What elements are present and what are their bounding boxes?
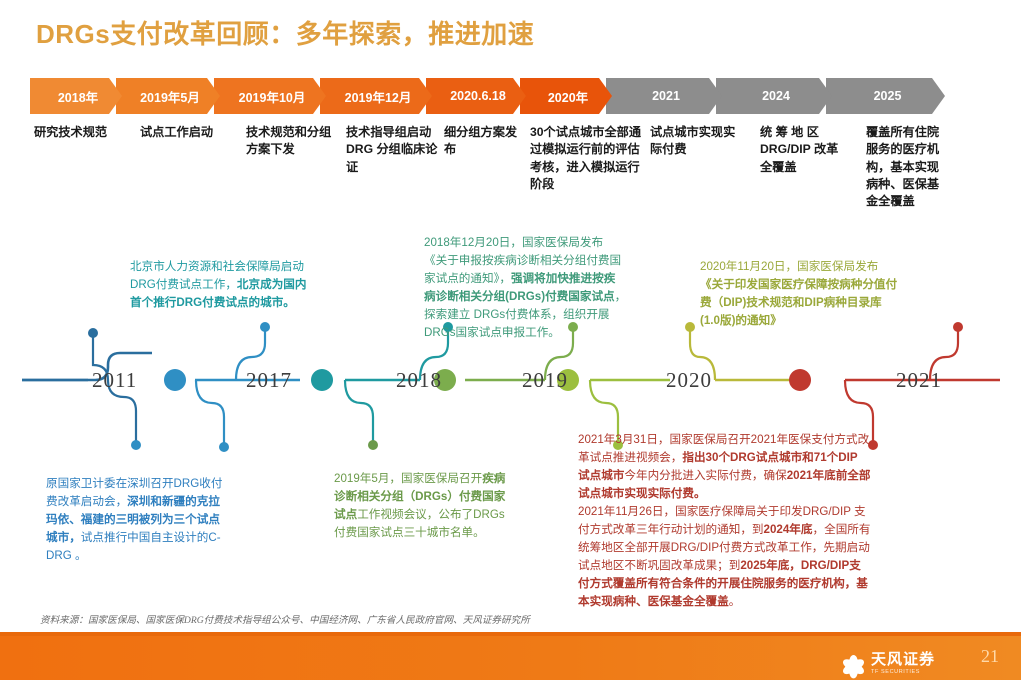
year-label-2020: 2020 [666, 368, 712, 393]
brand-subtitle: TF SECURITIES [871, 669, 935, 675]
phase-chevron-bar: 2018年2019年5月2019年10月2019年12月2020.6.18202… [30, 78, 993, 114]
stage-caption-4: 技术指导组启动 DRG 分组临床论证 [346, 124, 438, 176]
note-line: 费（DIP)技术规范和DIP病种目录库 [700, 294, 932, 312]
note-line: 《关于印发国家医疗保障按病种分值付 [700, 276, 932, 294]
note-shenzhen-2011: 原国家卫计委在深圳召开DRG收付费改革启动会，深圳和新疆的克拉玛依、福建的三明被… [46, 475, 246, 565]
note-line: 2018年12月20日，国家医保局发布 [424, 234, 644, 252]
note-line: 试点城市今年内分批进入实际付费，确保2021年底前全部 [578, 467, 898, 485]
chevron-label: 2019年5月 [136, 87, 200, 106]
chevron-phase-8[interactable]: 2024 [716, 78, 832, 114]
chevron-label: 2025 [870, 89, 902, 103]
note-line: 2021年11月26日，国家医疗保障局关于印发DRG/DIP 支 [578, 503, 898, 521]
note-line: 《关于申报按疾病诊断相关分组付费国 [424, 252, 644, 270]
note-line: (1.0版)的通知》 [700, 312, 932, 330]
note-beijing-2011: 北京市人力资源和社会保障局启动DRG付费试点工作，北京成为国内首个推行DRG付费… [130, 258, 340, 312]
stage-caption-3: 技术规范和分组方案下发 [246, 124, 340, 159]
note-line: 试点工作视频会议，公布了DRGs [334, 506, 549, 524]
note-line: 2019年5月，国家医保局召开疾病 [334, 470, 549, 488]
chevron-label: 2020年 [544, 87, 588, 106]
chevron-phase-6[interactable]: 2020年 [520, 78, 612, 114]
page-title: DRGs支付改革回顾：多年探索，推进加速 [36, 14, 534, 51]
year-label-2021: 2021 [896, 368, 942, 393]
note-2021-action-plan: 2021年3月31日，国家医保局召开2021年医保支付方式改革试点推进视频会，指… [578, 431, 898, 611]
note-line: 试点城市实现实际付费。 [578, 485, 898, 503]
note-line: 首个推行DRG付费试点的城市。 [130, 294, 340, 312]
note-line: 城市，试点推行中国自主设计的C- [46, 529, 246, 547]
note-line: 统筹地区全部开展DRG/DIP付费方式改革工作，先期启动 [578, 539, 898, 557]
chevron-phase-7[interactable]: 2021 [606, 78, 722, 114]
note-line: DRG 。 [46, 547, 246, 565]
note-line: DRGs国家试点申报工作。 [424, 324, 644, 342]
note-line: 试点地区不断巩固改革成果；到2025年底，DRG/DIP支 [578, 557, 898, 575]
note-2018-12-20: 2018年12月20日，国家医保局发布《关于申报按疾病诊断相关分组付费国家试点的… [424, 234, 644, 342]
note-2020-11-20: 2020年11月20日，国家医保局发布《关于印发国家医疗保障按病种分值付费（DI… [700, 258, 932, 330]
chevron-phase-3[interactable]: 2019年10月 [214, 78, 326, 114]
chevron-phase-5[interactable]: 2020.6.18 [426, 78, 526, 114]
stage-caption-8: 统 筹 地 区 DRG/DIP 改革全覆盖 [760, 124, 844, 176]
stage-caption-9: 覆盖所有住院服务的医疗机构，基本实现病种、医保基金全覆盖 [866, 124, 948, 211]
note-line: 原国家卫计委在深圳召开DRG收付 [46, 475, 246, 493]
chevron-phase-1[interactable]: 2018年 [30, 78, 122, 114]
note-line: 2020年11月20日，国家医保局发布 [700, 258, 932, 276]
stage-caption-2: 试点工作启动 [140, 124, 240, 141]
note-line: 探索建立 DRGs付费体系，组织开展 [424, 306, 644, 324]
brand-name: 天风证券 [871, 651, 935, 668]
note-line: 付方式覆盖所有符合条件的开展住院服务的医疗机构，基 [578, 575, 898, 593]
note-line: 玛依、福建的三明被列为三个试点 [46, 511, 246, 529]
stage-caption-6: 30个试点城市全部通过模拟运行前的评估考核，进入模拟运行阶段 [530, 124, 644, 193]
note-line: 革试点推进视频会，指出30个DRG试点城市和71个DIP [578, 449, 898, 467]
stage-caption-5: 细分组方案发布 [444, 124, 524, 159]
note-line: 费改革启动会，深圳和新疆的克拉 [46, 493, 246, 511]
note-line: 北京市人力资源和社会保障局启动 [130, 258, 340, 276]
flower-logo-icon [843, 651, 865, 673]
page-number: 21 [981, 646, 999, 667]
chevron-label: 2018年 [54, 87, 98, 106]
chevron-label: 2021 [648, 89, 680, 103]
source-note: 资料来源：国家医保局、国家医保DRG付费技术指导组公众号、中国经济网、广东省人民… [40, 612, 530, 626]
note-line: 付费国家试点三十城市名单。 [334, 524, 549, 542]
year-label-2019: 2019 [522, 368, 568, 393]
note-line: 付方式改革三年行动计划的通知，到2024年底，全国所有 [578, 521, 898, 539]
year-label-2011: 2011 [92, 368, 137, 393]
note-line: 2021年3月31日，国家医保局召开2021年医保支付方式改 [578, 431, 898, 449]
note-line: 家试点的通知》，强调将加快推进按疾 [424, 270, 644, 288]
stage-caption-7: 试点城市实现实际付费 [650, 124, 742, 159]
brand-logo: 天风证券 TF SECURITIES [843, 648, 935, 675]
stage-caption-1: 研究技术规范 [34, 124, 134, 141]
note-line: 诊断相关分组（DRGs）付费国家 [334, 488, 549, 506]
chevron-phase-4[interactable]: 2019年12月 [320, 78, 432, 114]
chevron-label: 2024 [758, 89, 790, 103]
chevron-label: 2019年10月 [235, 87, 306, 106]
chevron-label: 2020.6.18 [446, 89, 506, 103]
year-label-2017: 2017 [246, 368, 292, 393]
note-line: 本实现病种、医保基金全覆盖。 [578, 593, 898, 611]
note-line: DRG付费试点工作，北京成为国内 [130, 276, 340, 294]
chevron-label: 2019年12月 [341, 87, 412, 106]
chevron-phase-2[interactable]: 2019年5月 [116, 78, 220, 114]
note-2019-05: 2019年5月，国家医保局召开疾病诊断相关分组（DRGs）付费国家试点工作视频会… [334, 470, 549, 542]
chevron-phase-9[interactable]: 2025 [826, 78, 945, 114]
note-line: 病诊断相关分组(DRGs)付费国家试点， [424, 288, 644, 306]
year-label-2018: 2018 [396, 368, 442, 393]
